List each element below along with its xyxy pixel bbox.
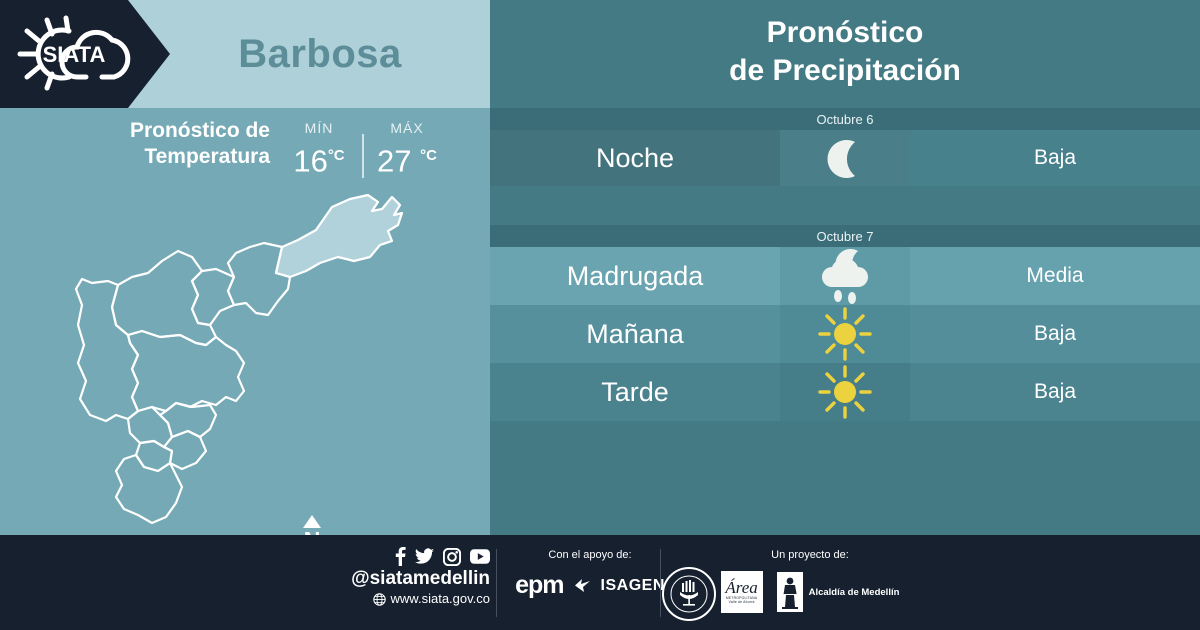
website-line[interactable]: www.siata.gov.co bbox=[330, 590, 490, 608]
social-block: @siatamedellin www.siata.gov.co bbox=[330, 547, 490, 608]
temperature-title: Pronóstico de Temperatura bbox=[55, 118, 270, 170]
forecast-rows-day2: Madrugada Media Mañana bbox=[490, 247, 1200, 421]
map-region-north-west bbox=[76, 279, 138, 421]
project-caption: Un proyecto de: bbox=[690, 549, 930, 561]
map-svg bbox=[20, 185, 470, 530]
table-row[interactable]: Mañana bbox=[490, 305, 1200, 363]
footer: @siatamedellin www.siata.gov.co Con el a… bbox=[0, 535, 1200, 630]
forecast-title: Pronóstico de Precipitación bbox=[490, 14, 1200, 90]
social-icons bbox=[330, 547, 490, 566]
temperature-min: MÍN 16°C bbox=[278, 118, 360, 179]
date-band-oct6: Octubre 6 bbox=[490, 108, 1200, 130]
project-block: Un proyecto de: Área METROPOLITANA Valle… bbox=[690, 549, 930, 613]
area-metropolitana-line2: Valle de Aburrá bbox=[729, 600, 755, 605]
forecast-level-value: Baja bbox=[910, 363, 1200, 421]
support-caption: Con el apoyo de: bbox=[500, 549, 680, 561]
alcaldia-label: Alcaldía de Medellín bbox=[809, 587, 900, 598]
infographic-root: Barbosa SIATA Pronóstico de Temperatura bbox=[0, 0, 1200, 630]
footer-divider-1 bbox=[496, 549, 497, 617]
precipitation-panel: Pronóstico de Precipitación Octubre 6 No… bbox=[490, 0, 1200, 535]
temperature-min-unit: °C bbox=[328, 147, 345, 164]
sun-icon bbox=[816, 363, 874, 421]
temperature-max-value: 27 °C bbox=[366, 138, 448, 179]
forecast-rows-day1: Noche Baja bbox=[490, 130, 1200, 186]
temperature-max: MÁX 27 °C bbox=[366, 118, 448, 179]
temperature-min-label: MÍN bbox=[278, 118, 360, 138]
isagen-logo: ISAGEN bbox=[601, 577, 665, 595]
left-panel: Barbosa SIATA Pronóstico de Temperatura bbox=[0, 0, 490, 535]
support-logos: epm ISAGEN bbox=[500, 571, 680, 600]
website-url: www.siata.gov.co bbox=[391, 590, 490, 608]
temperature-block: Pronóstico de Temperatura MÍN 16°C MÁX 2… bbox=[0, 118, 490, 190]
map-region-caldas bbox=[116, 455, 182, 523]
youtube-icon[interactable] bbox=[470, 549, 490, 564]
isagen-mark-icon bbox=[574, 578, 591, 593]
footer-divider-2 bbox=[660, 549, 661, 617]
map-region-medellin bbox=[128, 331, 244, 411]
sun-cloud-icon: SIATA bbox=[14, 14, 140, 94]
forecast-title-line2: de Precipitación bbox=[490, 52, 1200, 90]
table-row[interactable]: Madrugada Media bbox=[490, 247, 1200, 305]
area-metropolitana-script: Área bbox=[725, 580, 757, 596]
temperature-min-value: 16°C bbox=[278, 138, 360, 179]
forecast-level-value: Baja bbox=[910, 305, 1200, 363]
social-handle[interactable]: @siatamedellin bbox=[330, 568, 490, 590]
forecast-period-label: Tarde bbox=[490, 363, 780, 421]
temperature-max-unit: °C bbox=[420, 147, 437, 164]
forecast-icon-cell bbox=[780, 247, 910, 305]
page-title: Barbosa bbox=[150, 0, 490, 108]
forecast-level-value: Baja bbox=[910, 130, 1200, 186]
forecast-period-label: Noche bbox=[490, 130, 780, 186]
forecast-icon-cell bbox=[780, 363, 910, 421]
alcaldia-crest-icon bbox=[777, 572, 803, 612]
facebook-icon[interactable] bbox=[395, 547, 406, 566]
project-logos: Área METROPOLITANA Valle de Aburrá bbox=[690, 571, 930, 613]
forecast-icon-cell bbox=[780, 130, 910, 186]
table-row[interactable]: Tarde bbox=[490, 363, 1200, 421]
forecast-title-line1: Pronóstico bbox=[490, 14, 1200, 52]
map-region-envigado bbox=[160, 403, 216, 437]
temperature-values: MÍN 16°C MÁX 27 °C bbox=[278, 118, 448, 179]
map-region-bello bbox=[112, 251, 216, 345]
temperature-max-label: MÁX bbox=[366, 118, 448, 138]
sun-icon bbox=[816, 305, 874, 363]
siata-logo-text: SIATA bbox=[43, 42, 106, 67]
instagram-icon[interactable] bbox=[443, 548, 461, 566]
date-band-oct7: Octubre 7 bbox=[490, 225, 1200, 247]
forecast-icon-cell bbox=[780, 305, 910, 363]
temperature-divider bbox=[362, 134, 364, 178]
map-region-barbosa bbox=[276, 195, 402, 277]
temperature-title-line1: Pronóstico de bbox=[55, 118, 270, 144]
moon-rain-cloud-icon bbox=[814, 247, 876, 305]
twitter-icon[interactable] bbox=[415, 547, 434, 566]
forecast-level-value: Media bbox=[910, 247, 1200, 305]
temperature-title-line2: Temperatura bbox=[55, 144, 270, 170]
forecast-period-label: Mañana bbox=[490, 305, 780, 363]
area-metropolitana-logo: Área METROPOLITANA Valle de Aburrá bbox=[721, 571, 763, 613]
moon-icon bbox=[817, 130, 873, 186]
valle-de-aburra-map: N bbox=[20, 185, 470, 530]
globe-icon bbox=[373, 593, 386, 606]
epm-logo: epm bbox=[515, 571, 563, 600]
support-block: Con el apoyo de: epm ISAGEN bbox=[500, 549, 680, 600]
forecast-period-label: Madrugada bbox=[490, 247, 780, 305]
map-region-girardota bbox=[228, 243, 290, 315]
table-row[interactable]: Noche Baja bbox=[490, 130, 1200, 186]
